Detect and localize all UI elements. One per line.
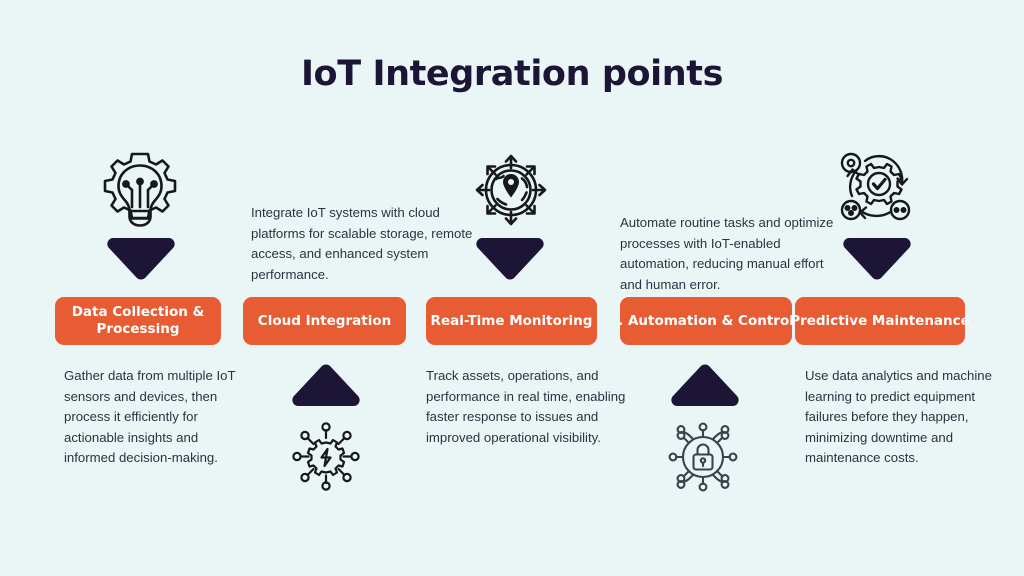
- step-label-text: . Automation & Control: [618, 313, 794, 330]
- step-column-data-collection-processing: Data Collection & Processing Gather data…: [48, 0, 268, 576]
- step-label-cloud-integration[interactable]: Cloud Integration: [243, 297, 406, 345]
- step-description-predictive-maintenance: Use data analytics and machine learning …: [805, 366, 1011, 469]
- step-label-data-collection-processing[interactable]: Data Collection & Processing: [55, 297, 221, 345]
- gear-check-cycle-icon: [832, 148, 926, 230]
- gear-lightning-network-icon: [290, 420, 362, 492]
- step-label-text: Real-Time Monitoring: [431, 313, 593, 330]
- step-label-text: Cloud Integration: [258, 313, 391, 330]
- step-label-text: Predictive Maintenance: [790, 313, 970, 330]
- step-label-predictive-maintenance[interactable]: Predictive Maintenance: [795, 297, 965, 345]
- step-label-real-time-monitoring[interactable]: Real-Time Monitoring: [426, 297, 597, 345]
- globe-location-pin-icon: [470, 147, 552, 233]
- step-description-data-collection-processing: Gather data from multiple IoT sensors an…: [64, 366, 244, 469]
- step-label-text: Data Collection & Processing: [61, 304, 215, 338]
- step-column-real-time-monitoring: Real-Time Monitoring Track assets, opera…: [422, 0, 642, 576]
- lightbulb-gear-icon: [98, 147, 182, 235]
- padlock-network-icon: [665, 418, 741, 496]
- step-label-automation-control[interactable]: . Automation & Control: [620, 297, 792, 345]
- infographic-canvas: IoT Integration points: [0, 0, 1024, 576]
- step-column-predictive-maintenance: Predictive Maintenance Use data analytic…: [790, 0, 1010, 576]
